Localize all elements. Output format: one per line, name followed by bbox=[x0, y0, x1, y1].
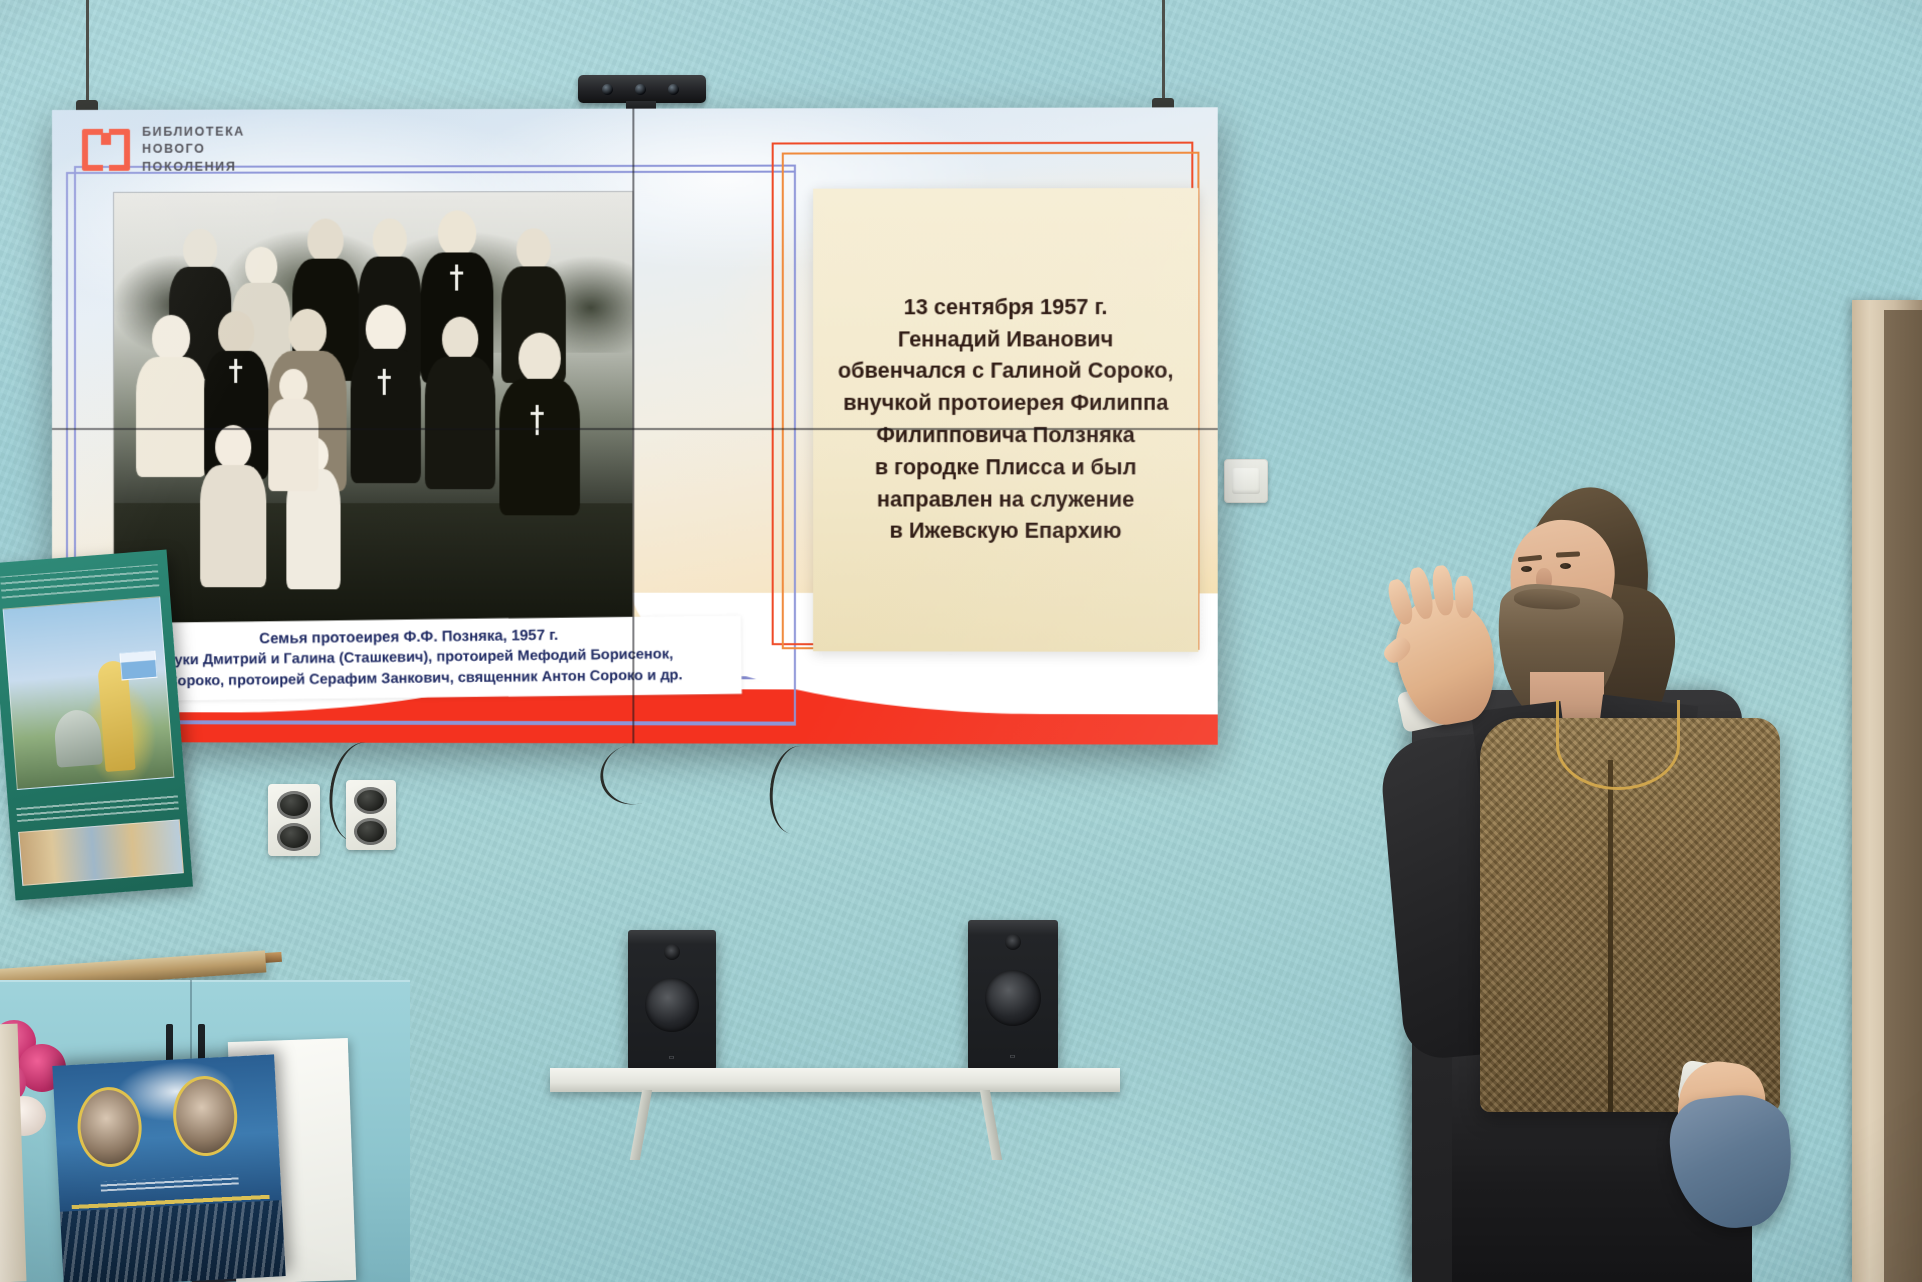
logo-line-1: БИБЛИОТЕКА bbox=[142, 124, 245, 141]
light-switch[interactable] bbox=[1224, 459, 1268, 503]
photo-ground bbox=[114, 503, 632, 624]
equipment-shelf bbox=[550, 1068, 1120, 1092]
socket-icon[interactable] bbox=[354, 787, 387, 814]
slide-text-line-2: Геннадий Иванович bbox=[898, 324, 1113, 356]
socket-icon[interactable] bbox=[354, 818, 387, 845]
videowall-seam-vertical bbox=[632, 109, 634, 744]
photo-person bbox=[425, 317, 495, 488]
photo-person bbox=[499, 333, 580, 514]
slide-text-line-4: внучкой протоиерея Филиппа bbox=[843, 388, 1168, 420]
door-panel bbox=[1884, 310, 1922, 1282]
videowall-seam-horizontal bbox=[52, 428, 1218, 430]
socket-icon[interactable] bbox=[277, 823, 311, 851]
slide-text-line-7: направлен на служение bbox=[877, 484, 1134, 516]
photo-pectoral-cross-icon bbox=[383, 369, 386, 395]
slide-text-line-6: в городке Плисса и был bbox=[875, 452, 1137, 484]
speaker-tweeter-icon bbox=[1005, 934, 1021, 950]
slide-text-lines: 13 сентября 1957 г. Геннадий Иванович об… bbox=[813, 188, 1198, 652]
photo-pectoral-cross-icon bbox=[455, 265, 458, 291]
logo-line-2: НОВОГО bbox=[142, 141, 245, 158]
photo-person bbox=[200, 425, 266, 585]
green-book-title-text bbox=[0, 564, 159, 598]
kinect-sensor-bar bbox=[578, 75, 706, 103]
green-book-subtitle-text bbox=[16, 793, 179, 822]
slide-text-line-5: Филипповича Ползняка bbox=[876, 420, 1135, 452]
book-logo-left-page bbox=[82, 129, 103, 171]
blue-book-cover bbox=[52, 1054, 285, 1282]
speaker-left: ▭ bbox=[628, 930, 716, 1070]
green-book-photo-strip bbox=[18, 819, 184, 886]
presenter-vest-opening bbox=[1608, 760, 1613, 1112]
speaker-driver-icon bbox=[985, 970, 1041, 1026]
green-book-cover-photo bbox=[3, 596, 175, 790]
slide-text-line-3: обвенчался с Галиной Сороко, bbox=[838, 356, 1174, 388]
book-logo-right-page bbox=[109, 129, 130, 171]
photo-person bbox=[136, 315, 206, 475]
blue-book-sea-image bbox=[60, 1200, 286, 1282]
photo-person bbox=[351, 305, 421, 481]
book-logo-icon bbox=[82, 129, 130, 171]
blue-book-subtitle-text bbox=[100, 1174, 238, 1191]
library-logo: БИБЛИОТЕКА НОВОГО ПОКОЛЕНИЯ bbox=[82, 124, 245, 176]
historical-family-photograph bbox=[114, 192, 632, 624]
library-logo-text: БИБЛИОТЕКА НОВОГО ПОКОЛЕНИЯ bbox=[142, 124, 245, 176]
logo-line-3: ПОКОЛЕНИЯ bbox=[142, 158, 245, 175]
finger bbox=[1454, 576, 1473, 619]
mount-wire-right bbox=[1162, 0, 1165, 110]
kinect-lens-icon bbox=[602, 84, 613, 95]
speaker-brand-mark: ▭ bbox=[669, 1054, 676, 1061]
speaker-tweeter-icon bbox=[664, 944, 680, 960]
speaker-driver-icon bbox=[645, 978, 699, 1032]
flag-icon bbox=[119, 650, 157, 681]
light-switch-rocker[interactable] bbox=[1232, 468, 1260, 494]
presenter-eye-left bbox=[1521, 566, 1532, 572]
slide-text-line-1: 13 сентября 1957 г. bbox=[904, 292, 1108, 324]
power-outlet-left[interactable] bbox=[268, 784, 320, 856]
green-book-cover bbox=[0, 550, 193, 901]
church-dome-icon bbox=[52, 708, 102, 767]
photo-pectoral-cross-icon bbox=[536, 405, 539, 435]
socket-icon[interactable] bbox=[277, 791, 311, 819]
slide-text-panel: 13 сентября 1957 г. Геннадий Иванович об… bbox=[813, 188, 1198, 652]
slide-text-line-8: в Ижевскую Епархию bbox=[890, 516, 1122, 548]
kinect-lens-icon bbox=[668, 84, 679, 95]
photo-pectoral-cross-icon bbox=[234, 359, 237, 383]
kinect-lens-icon bbox=[635, 84, 646, 95]
speaker-brand-mark: ▭ bbox=[1010, 1053, 1017, 1060]
mount-wire-left bbox=[86, 0, 89, 112]
presenter-neck-chain bbox=[1556, 700, 1680, 790]
power-outlet-right[interactable] bbox=[346, 780, 396, 850]
projection-screen[interactable]: БИБЛИОТЕКА НОВОГО ПОКОЛЕНИЯ bbox=[52, 107, 1218, 744]
speaker-right: ▭ bbox=[968, 920, 1058, 1070]
screenshot-root: БИБЛИОТЕКА НОВОГО ПОКОЛЕНИЯ bbox=[0, 0, 1922, 1282]
book-logo-spine bbox=[101, 133, 111, 145]
presenter-eye-right bbox=[1560, 563, 1571, 569]
